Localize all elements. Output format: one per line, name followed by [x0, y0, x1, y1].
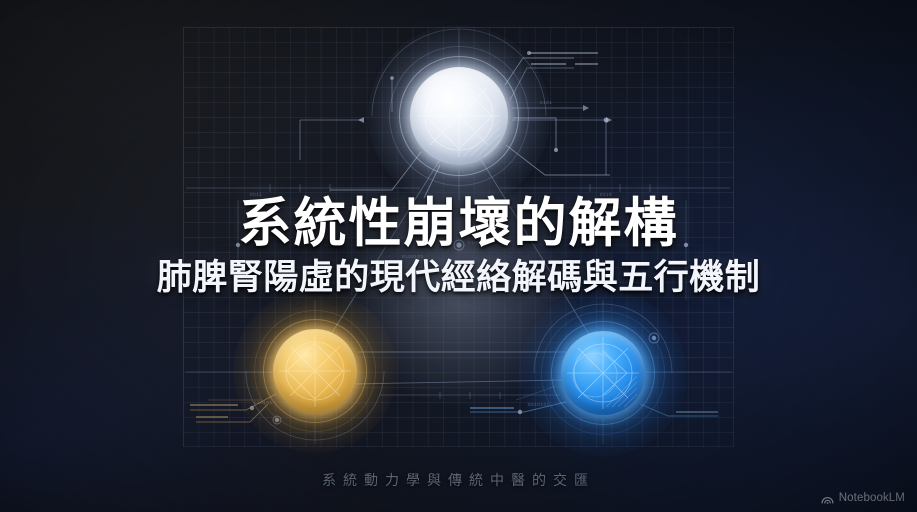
- notebooklm-icon: [821, 493, 834, 504]
- node-gold-geometry: [273, 329, 357, 413]
- presentation-slide: 0101 010010 0100100 0010101 010101 0110 …: [0, 0, 917, 512]
- notebooklm-watermark: NotebookLM: [821, 492, 905, 504]
- node-gold-sphere: [273, 329, 357, 413]
- node-blue-sphere: [561, 331, 645, 415]
- node-white-geometry: [410, 67, 508, 165]
- notebooklm-label: NotebookLM: [839, 492, 905, 504]
- node-blue-geometry: [561, 331, 645, 415]
- node-white-sphere: [410, 67, 508, 165]
